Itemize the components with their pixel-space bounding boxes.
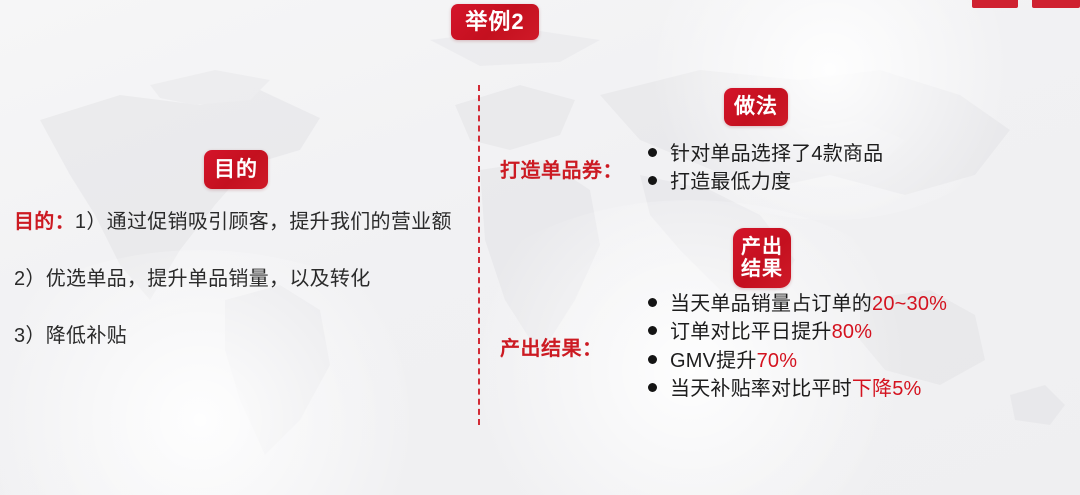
bullet-dot-icon xyxy=(648,148,657,157)
purpose-line-2: 2）优选单品，提升单品销量，以及转化 xyxy=(14,262,464,291)
bullet-dot-icon xyxy=(648,326,657,335)
bullet-dot-icon xyxy=(648,298,657,307)
method-bullet-item: 针对单品选择了4款商品 xyxy=(648,140,883,168)
purpose-line-2-text: 2）优选单品，提升单品销量，以及转化 xyxy=(14,268,371,290)
purpose-inline-label: 目的 xyxy=(14,211,55,233)
outcome-bullet-item: 当天单品销量占订单的20~30% xyxy=(648,290,947,318)
purpose-text-block: 目的：1）通过促销吸引顾客，提升我们的营业额 2）优选单品，提升单品销量，以及转… xyxy=(14,205,464,348)
method-badge: 做法 xyxy=(724,88,788,126)
top-red-bar-2 xyxy=(1032,0,1080,8)
outcome-bullet-highlight: 下降5% xyxy=(852,375,922,403)
outcome-bullet-text: 订单对比平日提升 xyxy=(670,318,832,346)
purpose-inline-separator: ： xyxy=(55,211,75,233)
purpose-line-3-text: 3）降低补贴 xyxy=(14,325,127,347)
outcome-badge-line-1: 产出 xyxy=(741,236,783,258)
outcome-bullet-text: 当天补贴率对比平时 xyxy=(670,375,852,403)
slide-canvas: 举例2 目的 目的：1）通过促销吸引顾客，提升我们的营业额 2）优选单品，提升单… xyxy=(0,0,1080,495)
outcome-badge: 产出 结果 xyxy=(733,228,791,288)
outcome-bullet-highlight: 80% xyxy=(832,318,873,346)
purpose-line-3: 3）降低补贴 xyxy=(14,319,464,348)
outcome-bullet-text: 当天单品销量占订单的 xyxy=(670,290,872,318)
method-section: 打造单品券： 针对单品选择了4款商品 打造最低力度 xyxy=(500,140,883,197)
outcome-bullet-item: 订单对比平日提升80% xyxy=(648,318,947,346)
outcome-section: 产出结果： 当天单品销量占订单的20~30% 订单对比平日提升80% GMV提升… xyxy=(500,290,947,404)
outcome-bullet-highlight: 20~30% xyxy=(872,290,947,318)
bullet-dot-icon xyxy=(648,383,657,392)
method-bullet-list: 针对单品选择了4款商品 打造最低力度 xyxy=(648,140,883,197)
outcome-label: 产出结果： xyxy=(500,332,648,361)
purpose-badge: 目的 xyxy=(204,150,268,189)
outcome-bullet-item: GMV提升70% xyxy=(648,347,947,375)
dashed-divider xyxy=(478,85,480,425)
bullet-dot-icon xyxy=(648,176,657,185)
purpose-line-1-text: 1）通过促销吸引顾客，提升我们的营业额 xyxy=(75,211,452,233)
method-bullet-text: 打造最低力度 xyxy=(670,168,791,196)
outcome-bullet-item: 当天补贴率对比平时下降5% xyxy=(648,375,947,403)
top-red-bar-1 xyxy=(972,0,1018,8)
outcome-bullet-list: 当天单品销量占订单的20~30% 订单对比平日提升80% GMV提升70% 当天… xyxy=(648,290,947,404)
purpose-line-1: 目的：1）通过促销吸引顾客，提升我们的营业额 xyxy=(14,205,464,234)
slide-title-badge: 举例2 xyxy=(451,4,539,40)
bullet-dot-icon xyxy=(648,355,657,364)
outcome-bullet-highlight: 70% xyxy=(757,347,798,375)
outcome-bullet-text: GMV提升 xyxy=(670,347,757,375)
outcome-badge-line-2: 结果 xyxy=(741,258,783,280)
method-bullet-item: 打造最低力度 xyxy=(648,168,883,196)
method-label: 打造单品券： xyxy=(500,154,648,183)
method-bullet-text: 针对单品选择了4款商品 xyxy=(670,140,883,168)
